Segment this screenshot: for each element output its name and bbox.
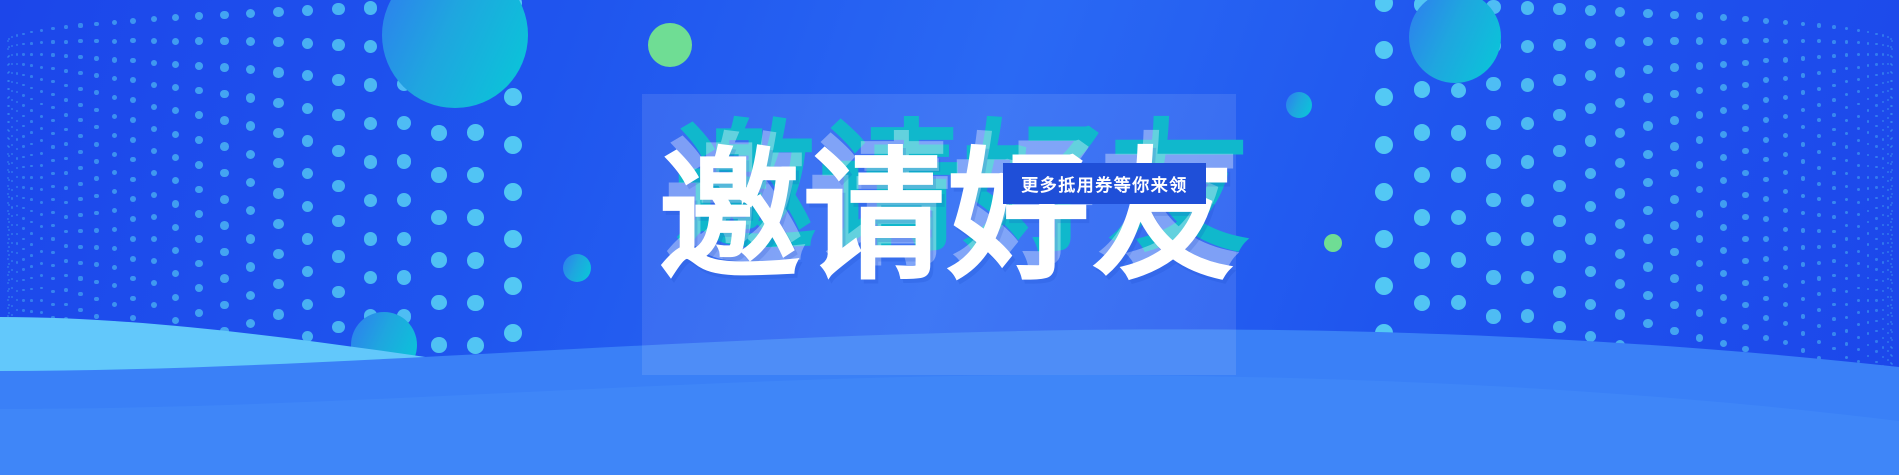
dot — [246, 9, 255, 18]
dot — [40, 176, 43, 179]
dot — [11, 242, 13, 244]
dot — [1801, 125, 1806, 130]
dot — [1451, 0, 1467, 13]
dot — [1857, 139, 1860, 142]
dot — [431, 167, 447, 183]
dot — [195, 87, 203, 95]
dot — [172, 247, 179, 254]
dot — [151, 16, 157, 22]
dot — [94, 245, 99, 250]
dot — [1486, 77, 1500, 91]
dot — [40, 115, 43, 118]
dot — [195, 136, 203, 144]
dot — [1615, 188, 1625, 198]
dot — [1643, 150, 1652, 159]
dot — [332, 180, 344, 192]
dot — [1875, 135, 1877, 137]
dot — [22, 186, 24, 188]
dot — [1521, 117, 1534, 130]
dot — [1521, 1, 1534, 14]
dot — [1783, 246, 1788, 251]
dot — [16, 195, 18, 197]
dot — [1521, 78, 1534, 91]
dot — [151, 38, 157, 44]
dot — [151, 236, 157, 242]
dot — [1890, 163, 1892, 165]
dot — [1875, 207, 1877, 209]
dot — [40, 66, 43, 69]
dot — [1832, 113, 1836, 117]
dot — [1817, 118, 1821, 122]
dot — [40, 139, 43, 142]
dot — [30, 131, 33, 134]
dot — [64, 157, 68, 161]
dot — [64, 186, 68, 190]
dot — [1867, 31, 1870, 34]
dot — [8, 196, 10, 198]
dot — [30, 165, 33, 168]
dot — [1857, 115, 1860, 118]
dot — [1783, 57, 1788, 62]
dot — [1696, 111, 1704, 119]
dot — [1375, 88, 1393, 106]
dot — [1882, 34, 1884, 36]
dot — [30, 53, 33, 56]
dot — [22, 53, 24, 55]
dot — [1857, 127, 1860, 130]
dot — [1882, 186, 1884, 188]
dot — [1414, 167, 1431, 184]
dot — [1857, 250, 1860, 253]
dot — [1643, 178, 1652, 187]
dot — [1887, 224, 1889, 226]
dot — [7, 88, 9, 90]
dot — [78, 213, 82, 217]
dot — [51, 80, 54, 83]
dot — [1783, 95, 1788, 100]
dot — [1875, 84, 1877, 86]
dot — [1414, 209, 1431, 226]
dot — [302, 38, 313, 49]
dot — [397, 38, 411, 52]
dot — [1832, 40, 1836, 44]
dot — [1832, 215, 1836, 219]
dot — [64, 230, 68, 234]
dot — [22, 63, 24, 65]
dot — [16, 63, 18, 65]
dot — [64, 171, 68, 175]
dot — [1891, 210, 1893, 212]
dot — [40, 237, 43, 240]
dot — [94, 39, 99, 44]
dot — [8, 238, 10, 240]
dot — [51, 40, 54, 43]
dot — [364, 194, 377, 207]
dot — [1887, 153, 1889, 155]
dot — [16, 157, 18, 159]
dot — [1891, 218, 1893, 220]
dot — [11, 117, 13, 119]
dot — [1890, 63, 1892, 65]
dot — [11, 90, 13, 92]
dot — [112, 246, 117, 251]
dot — [11, 144, 13, 146]
dot — [1867, 165, 1870, 168]
dot — [11, 180, 13, 182]
dot — [1887, 72, 1889, 74]
dot — [1887, 206, 1889, 208]
dot — [397, 193, 411, 207]
dot — [78, 71, 82, 75]
dot — [64, 142, 68, 146]
dot — [64, 84, 68, 88]
dot — [1890, 171, 1892, 173]
dot — [1875, 63, 1877, 65]
dot — [1887, 251, 1889, 253]
dot — [1891, 226, 1893, 228]
dot — [273, 158, 283, 168]
dot — [1696, 161, 1704, 169]
dot — [1553, 3, 1565, 15]
dot — [1720, 131, 1727, 138]
dot — [1845, 119, 1848, 122]
dot — [7, 129, 9, 131]
dot — [1890, 96, 1892, 98]
dot — [246, 178, 255, 187]
dot — [332, 109, 344, 121]
dot — [1857, 164, 1860, 167]
dot — [504, 183, 522, 201]
dot — [1375, 183, 1393, 201]
dot — [1615, 219, 1625, 229]
dot — [16, 91, 18, 93]
dot — [1891, 242, 1893, 244]
dot — [1845, 93, 1848, 96]
dot — [195, 186, 203, 194]
dot — [30, 154, 33, 157]
dot — [220, 63, 229, 72]
dot — [397, 77, 411, 91]
dot — [112, 152, 117, 157]
dot — [1890, 204, 1892, 206]
dot — [7, 210, 9, 212]
dot — [130, 196, 136, 202]
dot — [220, 142, 229, 151]
dot — [16, 233, 18, 235]
dot — [8, 55, 10, 57]
dot — [1857, 213, 1860, 216]
dot — [40, 201, 43, 204]
dot — [1882, 91, 1884, 93]
dot — [11, 197, 13, 199]
dot — [1832, 128, 1836, 132]
dot — [1486, 232, 1500, 246]
dot — [1891, 105, 1893, 107]
dot — [1486, 154, 1500, 168]
dot — [51, 172, 54, 175]
dot — [1857, 201, 1860, 204]
dot — [1882, 214, 1884, 216]
promo-badge-label: 更多抵用券等你来领 — [1021, 171, 1188, 196]
dot — [1643, 9, 1652, 18]
dot — [7, 64, 9, 66]
dot — [1696, 235, 1704, 243]
dot — [1783, 133, 1788, 138]
dot — [1643, 93, 1652, 102]
dot — [16, 44, 18, 46]
dot — [22, 94, 24, 96]
dot — [1867, 210, 1870, 213]
dot — [64, 201, 68, 205]
dot — [40, 225, 43, 228]
dot — [1553, 180, 1565, 192]
dot — [78, 55, 82, 59]
dot — [195, 37, 203, 45]
dot — [1887, 197, 1889, 199]
dot — [1857, 78, 1860, 81]
dot — [1763, 236, 1769, 242]
dot — [246, 37, 255, 46]
dot — [1742, 148, 1748, 154]
dot — [1832, 244, 1836, 248]
dot — [1845, 224, 1848, 227]
dot — [1763, 58, 1769, 64]
dot — [7, 121, 9, 123]
dot — [397, 0, 411, 14]
dot — [8, 171, 10, 173]
dot — [16, 120, 18, 122]
dot — [1867, 87, 1870, 90]
dot — [1882, 138, 1884, 140]
dot — [1867, 109, 1870, 112]
dot — [1783, 39, 1788, 44]
dot — [16, 82, 18, 84]
dot — [1521, 194, 1534, 207]
dot — [40, 213, 43, 216]
dot — [112, 95, 117, 100]
dot — [7, 72, 9, 74]
dot — [1521, 40, 1534, 53]
dot — [1585, 5, 1596, 16]
dot — [30, 187, 33, 190]
dot — [1553, 109, 1565, 121]
dot — [364, 232, 377, 245]
dot — [8, 138, 10, 140]
dot — [246, 206, 255, 215]
dot — [16, 129, 18, 131]
dot — [1875, 156, 1877, 158]
dot — [7, 185, 9, 187]
dot — [220, 90, 229, 99]
dot — [1742, 104, 1748, 110]
dot — [8, 71, 10, 73]
dot — [1670, 11, 1679, 20]
dot — [130, 177, 136, 183]
dot — [397, 116, 411, 130]
dot — [1857, 176, 1860, 179]
dot — [30, 98, 33, 101]
dot — [1845, 159, 1848, 162]
dot — [1801, 39, 1806, 44]
dot — [1845, 67, 1848, 70]
dot — [1891, 234, 1893, 236]
dot — [11, 206, 13, 208]
dot — [51, 53, 54, 56]
dot — [1890, 196, 1892, 198]
dot — [22, 43, 24, 45]
dot — [11, 36, 13, 38]
dot — [40, 78, 43, 81]
dot — [504, 0, 522, 12]
dot — [1553, 39, 1565, 51]
dot — [1890, 121, 1892, 123]
dot — [1720, 84, 1727, 91]
circle-green-right — [1324, 234, 1342, 252]
dot — [1887, 215, 1889, 217]
dot — [151, 104, 157, 110]
dot — [130, 97, 136, 103]
dot — [1887, 171, 1889, 173]
dot — [1375, 41, 1393, 59]
circle-green-top-center — [648, 23, 692, 67]
dot — [64, 244, 68, 248]
dot — [273, 37, 283, 47]
dot — [1882, 44, 1884, 46]
dot — [7, 242, 9, 244]
dot — [16, 176, 18, 178]
dot — [1615, 158, 1625, 168]
dot — [7, 169, 9, 171]
dot — [22, 104, 24, 106]
dot — [1890, 155, 1892, 157]
dot — [172, 14, 179, 21]
dot — [22, 145, 24, 147]
dot — [302, 135, 313, 146]
dot — [1521, 155, 1534, 168]
dot — [1845, 185, 1848, 188]
dot — [1763, 216, 1769, 222]
dot — [1890, 88, 1892, 90]
dot — [1783, 227, 1788, 232]
dot — [112, 227, 117, 232]
dot — [51, 251, 54, 254]
dot — [172, 200, 179, 207]
dot — [431, 0, 447, 13]
dot — [64, 215, 68, 219]
dot — [112, 39, 117, 44]
dot — [195, 235, 203, 243]
dot — [1875, 186, 1877, 188]
dot — [22, 238, 24, 240]
dot — [1875, 176, 1877, 178]
dot — [1783, 20, 1788, 25]
dot — [1670, 37, 1679, 46]
dot — [1670, 63, 1679, 72]
dot — [1763, 177, 1769, 183]
dot — [1832, 69, 1836, 73]
dot — [78, 23, 82, 27]
dot — [1887, 180, 1889, 182]
dot — [273, 219, 283, 229]
dot — [431, 83, 447, 99]
dot — [1783, 189, 1788, 194]
dot — [78, 134, 82, 138]
dot — [1832, 201, 1836, 205]
dot — [220, 195, 229, 204]
dot — [1553, 215, 1565, 227]
dot — [1414, 39, 1431, 56]
dot — [1845, 211, 1848, 214]
dot — [1875, 166, 1877, 168]
dot — [1801, 176, 1806, 181]
dot — [1891, 80, 1893, 82]
dot — [1882, 101, 1884, 103]
dot — [130, 157, 136, 163]
dot — [1887, 117, 1889, 119]
dot — [7, 56, 9, 58]
dot — [16, 167, 18, 169]
dot — [51, 145, 54, 148]
dot — [1720, 38, 1727, 45]
dot — [195, 210, 203, 218]
dot — [94, 22, 99, 27]
dot — [1845, 237, 1848, 240]
dot — [8, 96, 10, 98]
dot — [1882, 72, 1884, 74]
dot — [1890, 146, 1892, 148]
dot — [30, 42, 33, 45]
dot — [11, 108, 13, 110]
dot — [1867, 198, 1870, 201]
dot — [30, 221, 33, 224]
dot — [1890, 55, 1892, 57]
dot — [1801, 108, 1806, 113]
dot — [220, 221, 229, 230]
dot — [1742, 170, 1748, 176]
dot — [332, 39, 344, 51]
dot — [504, 88, 522, 106]
dot — [1615, 98, 1625, 108]
dot — [11, 162, 13, 164]
dot — [1375, 0, 1393, 12]
dot — [94, 142, 99, 147]
dot — [172, 84, 179, 91]
dot — [40, 164, 43, 167]
dot — [40, 41, 43, 44]
dot — [364, 78, 377, 91]
dot — [51, 67, 54, 70]
dot — [22, 197, 24, 199]
dot — [1891, 64, 1893, 66]
dot — [1891, 129, 1893, 131]
dot — [7, 153, 9, 155]
dot — [64, 69, 68, 73]
dot — [94, 211, 99, 216]
dot — [1615, 67, 1625, 77]
dot — [1817, 71, 1821, 75]
dot — [332, 145, 344, 157]
dot — [431, 125, 447, 141]
dot — [1882, 242, 1884, 244]
dot — [1891, 161, 1893, 163]
dot — [172, 107, 179, 114]
promo-badge[interactable]: 更多抵用券等你来领 — [1003, 163, 1206, 204]
dot — [364, 155, 377, 168]
dot — [1720, 247, 1727, 254]
dot — [1891, 113, 1893, 115]
dot — [1867, 98, 1870, 101]
dot — [7, 40, 9, 42]
